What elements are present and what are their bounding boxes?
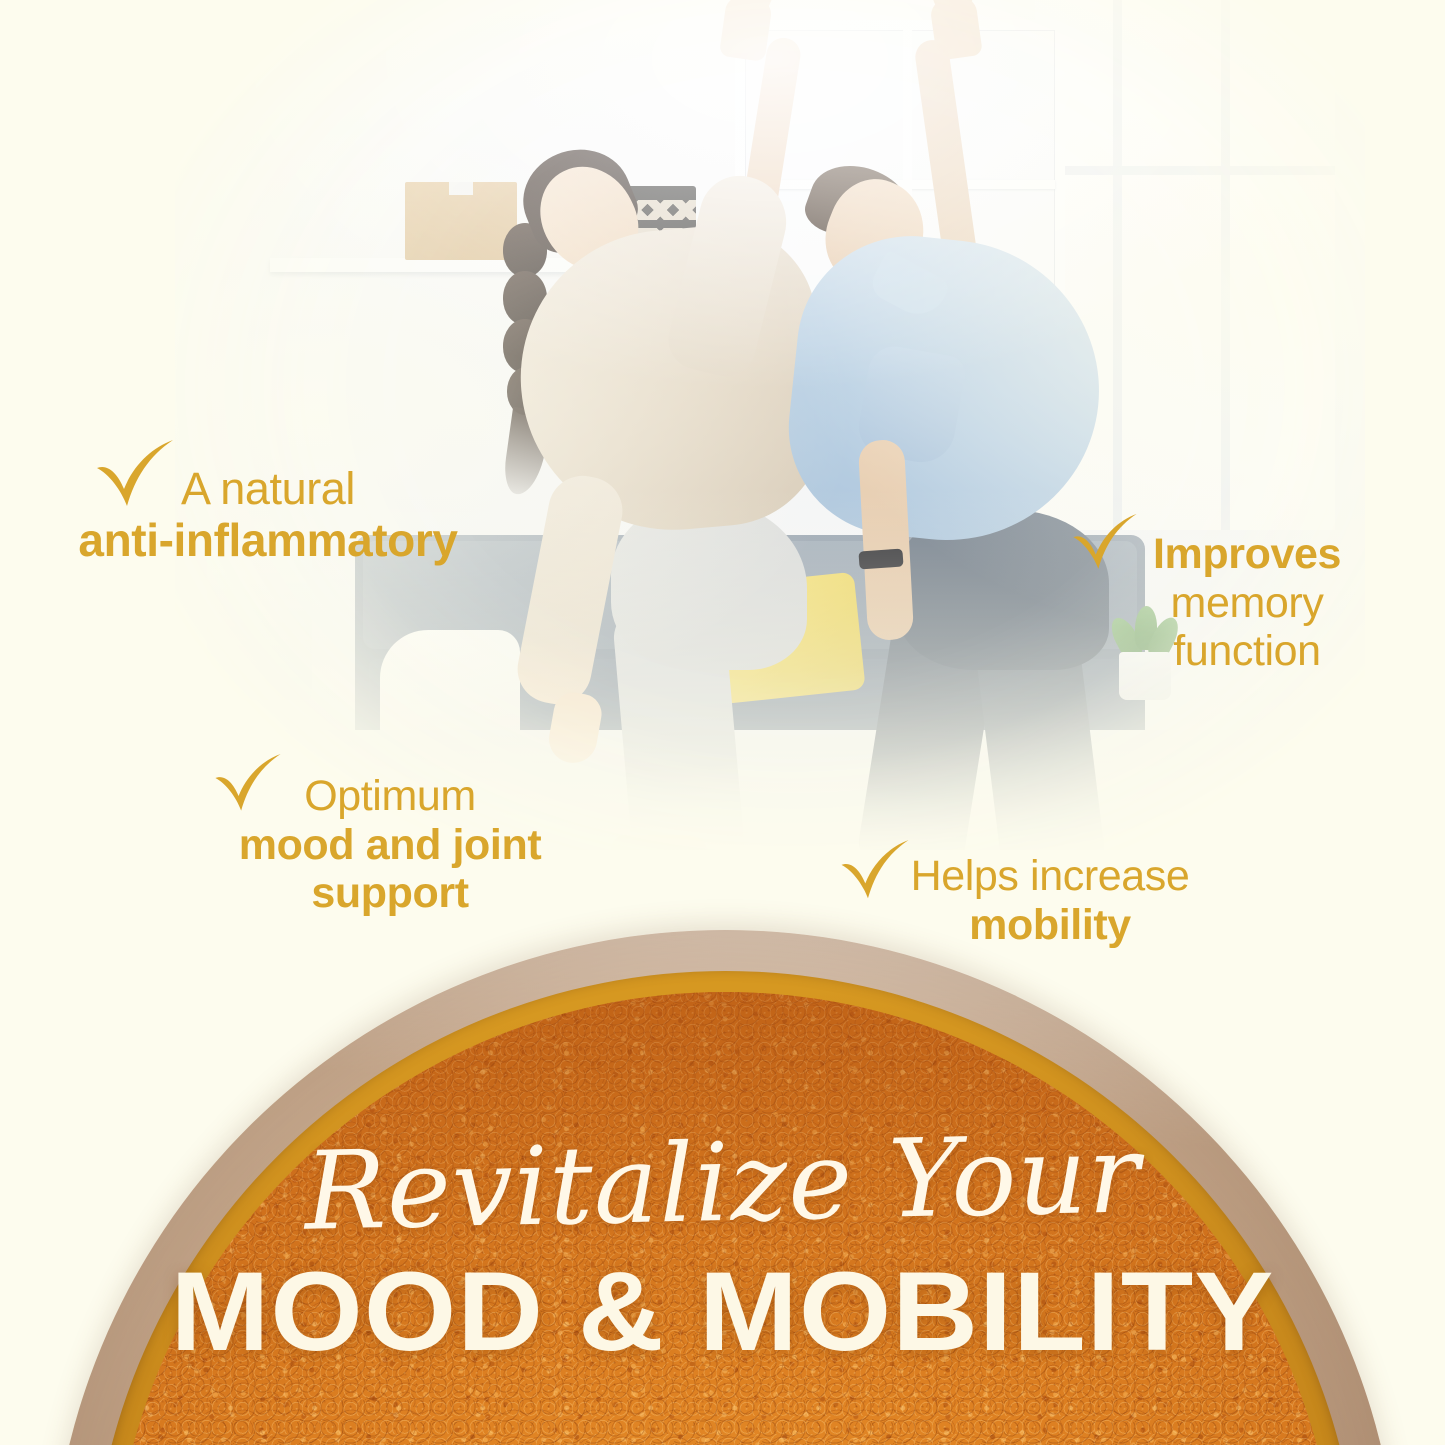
benefit-line: mood and joint <box>210 821 570 870</box>
benefit-line: memory <box>1102 579 1392 628</box>
benefit-line: Helps increase <box>880 852 1220 901</box>
man-figure <box>735 50 1155 850</box>
turmeric-bowl <box>50 930 1400 1445</box>
benefit-text: Helps increase mobility <box>880 852 1220 949</box>
hero-lifestyle-photo <box>175 0 1365 850</box>
ad-canvas: A natural anti-inflammatory Improves mem… <box>0 0 1445 1445</box>
living-room-background <box>175 0 1365 850</box>
benefit-line: mobility <box>880 901 1220 950</box>
benefit-line: A natural <box>38 464 498 515</box>
benefit-text: Improves memory function <box>1102 530 1392 676</box>
benefit-line: function <box>1102 627 1392 676</box>
benefit-line: anti-inflammatory <box>38 515 498 567</box>
benefit-line: support <box>210 869 570 918</box>
benefit-text: A natural anti-inflammatory <box>38 464 498 567</box>
benefit-line: Improves <box>1102 530 1392 579</box>
benefit-text: Optimum mood and joint support <box>210 772 570 918</box>
benefit-line: Optimum <box>210 772 570 821</box>
turmeric-powder <box>112 992 1338 1445</box>
side-cabinet <box>207 550 312 700</box>
